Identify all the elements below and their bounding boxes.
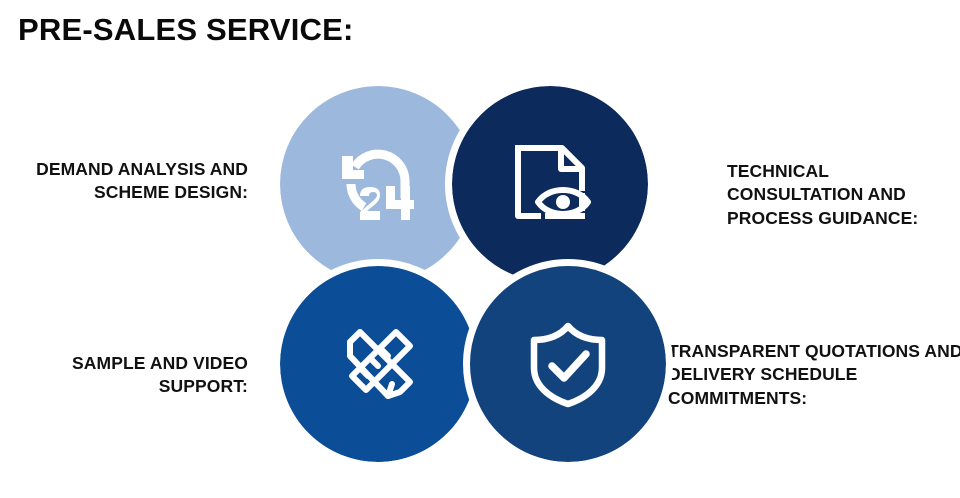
label-demand-analysis: DEMAND ANALYSIS AND SCHEME DESIGN: (0, 158, 248, 205)
label-sample-video-support: SAMPLE AND VIDEO SUPPORT: (0, 352, 248, 399)
document-eye-review-icon (502, 136, 598, 232)
label-technical-consultation: TECHNICAL CONSULTATION AND PROCESS GUIDA… (727, 160, 957, 230)
circle-transparent-quotations[interactable] (470, 266, 666, 462)
shield-check-icon (520, 316, 616, 412)
circle-demand-analysis[interactable] (280, 86, 476, 282)
label-transparent-quotations: TRANSPARENT QUOTATIONS AND DELIVERY SCHE… (668, 340, 960, 410)
circle-technical-consultation[interactable] (452, 86, 648, 282)
24-hours-refresh-icon (330, 136, 426, 232)
circle-sample-video-support[interactable] (280, 266, 476, 462)
pencil-ruler-design-icon (330, 316, 426, 412)
pre-sales-service-diagram (0, 0, 960, 498)
